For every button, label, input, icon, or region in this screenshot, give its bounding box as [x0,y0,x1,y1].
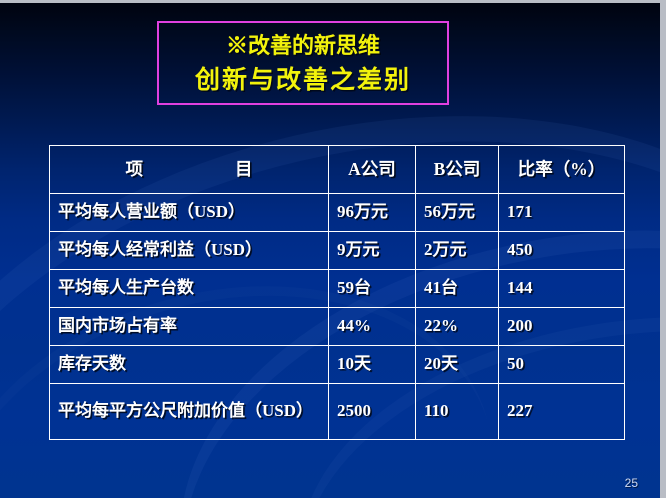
cell-company-a-value: 10天 [329,346,416,384]
slide-page-number: 25 [625,476,638,490]
table-row: 平均每人生产台数59台41台144 [50,270,625,308]
cell-item-name: 平均每人生产台数 [50,270,329,308]
cell-company-a-value: 44% [329,308,416,346]
column-header-item-left: 项 [126,159,144,179]
cell-company-b-value: 110 [416,384,499,440]
cell-ratio-value: 144 [499,270,625,308]
cell-item-name: 库存天数 [50,346,329,384]
slide-title-subheading: ※改善的新思维 [226,35,380,57]
cell-company-b-value: 20天 [416,346,499,384]
presentation-slide: ※改善的新思维 创新与改善之差别 项目 A公司 B公司 比率（%） 平均每人营业… [0,0,666,498]
cell-company-b-value: 56万元 [416,194,499,232]
column-header-item: 项目 [50,146,329,194]
cell-company-a-value: 9万元 [329,232,416,270]
column-header-ratio: 比率（%） [499,146,625,194]
column-header-company-a: A公司 [329,146,416,194]
table-body: 平均每人营业额（USD）96万元56万元171平均每人经常利益（USD）9万元2… [50,194,625,440]
cell-item-name: 平均每平方公尺附加价值（USD） [50,384,329,440]
comparison-table: 项目 A公司 B公司 比率（%） 平均每人营业额（USD）96万元56万元171… [49,145,625,440]
cell-ratio-value: 227 [499,384,625,440]
table-row: 平均每人经常利益（USD）9万元2万元450 [50,232,625,270]
table-row: 平均每人营业额（USD）96万元56万元171 [50,194,625,232]
table-row: 库存天数10天20天50 [50,346,625,384]
cell-ratio-value: 171 [499,194,625,232]
cell-ratio-value: 450 [499,232,625,270]
table-row: 平均每平方公尺附加价值（USD）2500110227 [50,384,625,440]
slide-title-heading: 创新与改善之差别 [195,68,411,93]
table-header-row: 项目 A公司 B公司 比率（%） [50,146,625,194]
cell-item-name: 平均每人营业额（USD） [50,194,329,232]
table-header: 项目 A公司 B公司 比率（%） [50,146,625,194]
table-row: 国内市场占有率44%22%200 [50,308,625,346]
cell-item-name: 平均每人经常利益（USD） [50,232,329,270]
cell-company-b-value: 41台 [416,270,499,308]
cell-company-b-value: 22% [416,308,499,346]
cell-ratio-value: 200 [499,308,625,346]
cell-ratio-value: 50 [499,346,625,384]
column-header-company-b: B公司 [416,146,499,194]
cell-item-name: 国内市场占有率 [50,308,329,346]
cell-company-b-value: 2万元 [416,232,499,270]
cell-company-a-value: 2500 [329,384,416,440]
slide-title-box: ※改善的新思维 创新与改善之差别 [157,21,449,105]
column-header-item-right: 目 [235,159,253,179]
cell-company-a-value: 59台 [329,270,416,308]
cell-company-a-value: 96万元 [329,194,416,232]
